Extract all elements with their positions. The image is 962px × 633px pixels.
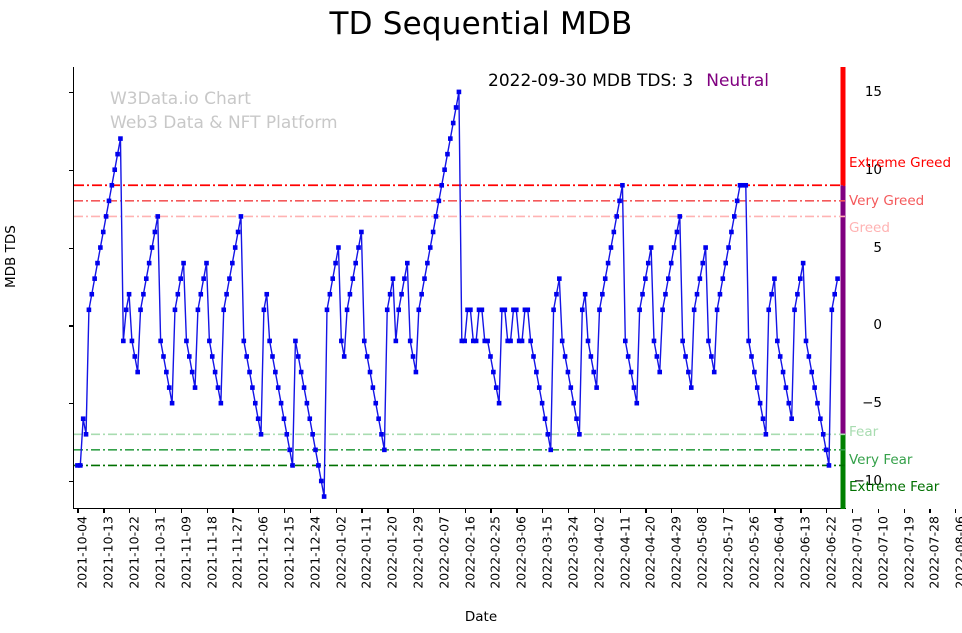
- x-tick-label: 2021-11-18: [204, 516, 219, 589]
- x-tick-label: 2022-07-01: [849, 516, 864, 589]
- x-tick-mark: [103, 509, 104, 513]
- x-tick-label: 2022-05-26: [746, 516, 761, 589]
- x-tick-label: 2022-05-08: [695, 516, 710, 589]
- y-tick-mark: [69, 481, 73, 482]
- x-tick-mark: [258, 509, 259, 513]
- x-tick-mark: [310, 509, 311, 513]
- x-tick-mark: [723, 509, 724, 513]
- y-tick-label: 15: [822, 84, 882, 100]
- y-tick-mark: [69, 170, 73, 171]
- x-tick-mark: [697, 509, 698, 513]
- x-tick-label: 2022-04-02: [591, 516, 606, 589]
- x-tick-mark: [77, 509, 78, 513]
- x-tick-label: 2022-03-15: [540, 516, 555, 589]
- chart-canvas: [73, 67, 846, 509]
- x-tick-mark: [490, 509, 491, 513]
- x-tick-mark: [774, 509, 775, 513]
- x-tick-mark: [232, 509, 233, 513]
- x-tick-label: 2022-06-22: [824, 516, 839, 589]
- x-tick-label: 2022-02-07: [436, 516, 451, 589]
- extreme-fear-band: [841, 434, 846, 509]
- series-markers: [75, 90, 840, 499]
- x-tick-label: 2022-05-17: [720, 516, 735, 589]
- x-tick-mark: [336, 509, 337, 513]
- x-tick-mark: [284, 509, 285, 513]
- x-tick-label: 2022-01-11: [359, 516, 374, 589]
- zone-label-very-greed: Very Greed: [849, 193, 924, 209]
- x-tick-label: 2022-01-20: [385, 516, 400, 589]
- page-title: TD Sequential MDB: [0, 6, 962, 42]
- y-tick-label: 5: [822, 240, 882, 256]
- x-tick-label: 2021-10-31: [152, 516, 167, 589]
- y-axis-label: MDB TDS: [3, 225, 19, 288]
- y-tick-label: 0: [822, 317, 882, 333]
- x-tick-label: 2022-08-06: [953, 516, 962, 589]
- zone-label-greed: Greed: [849, 220, 890, 236]
- x-tick-mark: [155, 509, 156, 513]
- x-tick-mark: [904, 509, 905, 513]
- x-tick-label: 2022-06-13: [798, 516, 813, 589]
- x-tick-mark: [594, 509, 595, 513]
- x-tick-label: 2021-12-15: [281, 516, 296, 589]
- x-tick-mark: [568, 509, 569, 513]
- x-tick-mark: [361, 509, 362, 513]
- x-tick-label: 2022-07-28: [927, 516, 942, 589]
- x-tick-mark: [929, 509, 930, 513]
- x-tick-label: 2022-07-10: [875, 516, 890, 589]
- x-tick-mark: [413, 509, 414, 513]
- x-tick-label: 2021-10-13: [101, 516, 116, 589]
- x-tick-label: 2022-01-29: [411, 516, 426, 589]
- series-line: [77, 92, 837, 497]
- x-tick-label: 2022-04-29: [669, 516, 684, 589]
- x-tick-mark: [800, 509, 801, 513]
- x-tick-mark: [387, 509, 388, 513]
- x-tick-label: 2022-02-25: [488, 516, 503, 589]
- zone-label-very-fear: Very Fear: [849, 452, 912, 468]
- x-tick-mark: [516, 509, 517, 513]
- x-tick-label: 2022-03-06: [514, 516, 529, 589]
- x-tick-label: 2021-12-06: [256, 516, 271, 589]
- x-tick-mark: [749, 509, 750, 513]
- x-tick-mark: [852, 509, 853, 513]
- zone-label-extreme-fear: Extreme Fear: [849, 479, 939, 495]
- x-tick-mark: [878, 509, 879, 513]
- x-tick-mark: [181, 509, 182, 513]
- x-tick-label: 2022-04-20: [643, 516, 658, 589]
- zone-label-fear: Fear: [849, 424, 878, 440]
- x-tick-mark: [439, 509, 440, 513]
- x-tick-mark: [671, 509, 672, 513]
- x-tick-label: 2021-11-27: [230, 516, 245, 589]
- y-tick-mark: [69, 248, 73, 249]
- y-tick-mark: [69, 403, 73, 404]
- plot-area: W3Data.io Chart Web3 Data & NFT Platform…: [73, 67, 846, 509]
- x-tick-mark: [129, 509, 130, 513]
- x-tick-label: 2022-01-02: [333, 516, 348, 589]
- x-tick-mark: [207, 509, 208, 513]
- x-tick-label: 2021-11-09: [178, 516, 193, 589]
- x-tick-mark: [620, 509, 621, 513]
- y-tick-mark: [69, 92, 73, 93]
- x-tick-mark: [955, 509, 956, 513]
- x-tick-label: 2021-12-24: [307, 516, 322, 589]
- x-tick-label: 2022-06-04: [772, 516, 787, 589]
- zone-label-extreme-greed: Extreme Greed: [849, 155, 951, 171]
- x-tick-label: 2021-10-04: [75, 516, 90, 589]
- x-tick-label: 2022-02-16: [462, 516, 477, 589]
- x-tick-label: 2022-04-11: [617, 516, 632, 589]
- y-tick-label: −5: [822, 395, 882, 411]
- x-tick-mark: [465, 509, 466, 513]
- x-tick-label: 2022-03-24: [565, 516, 580, 589]
- x-tick-label: 2021-10-22: [127, 516, 142, 589]
- x-tick-mark: [542, 509, 543, 513]
- x-tick-mark: [645, 509, 646, 513]
- x-axis-label: Date: [0, 609, 962, 625]
- chart-figure: TD Sequential MDB W3Data.io Chart Web3 D…: [0, 0, 962, 633]
- x-tick-mark: [826, 509, 827, 513]
- y-tick-mark: [69, 325, 73, 326]
- x-tick-label: 2022-07-19: [901, 516, 916, 589]
